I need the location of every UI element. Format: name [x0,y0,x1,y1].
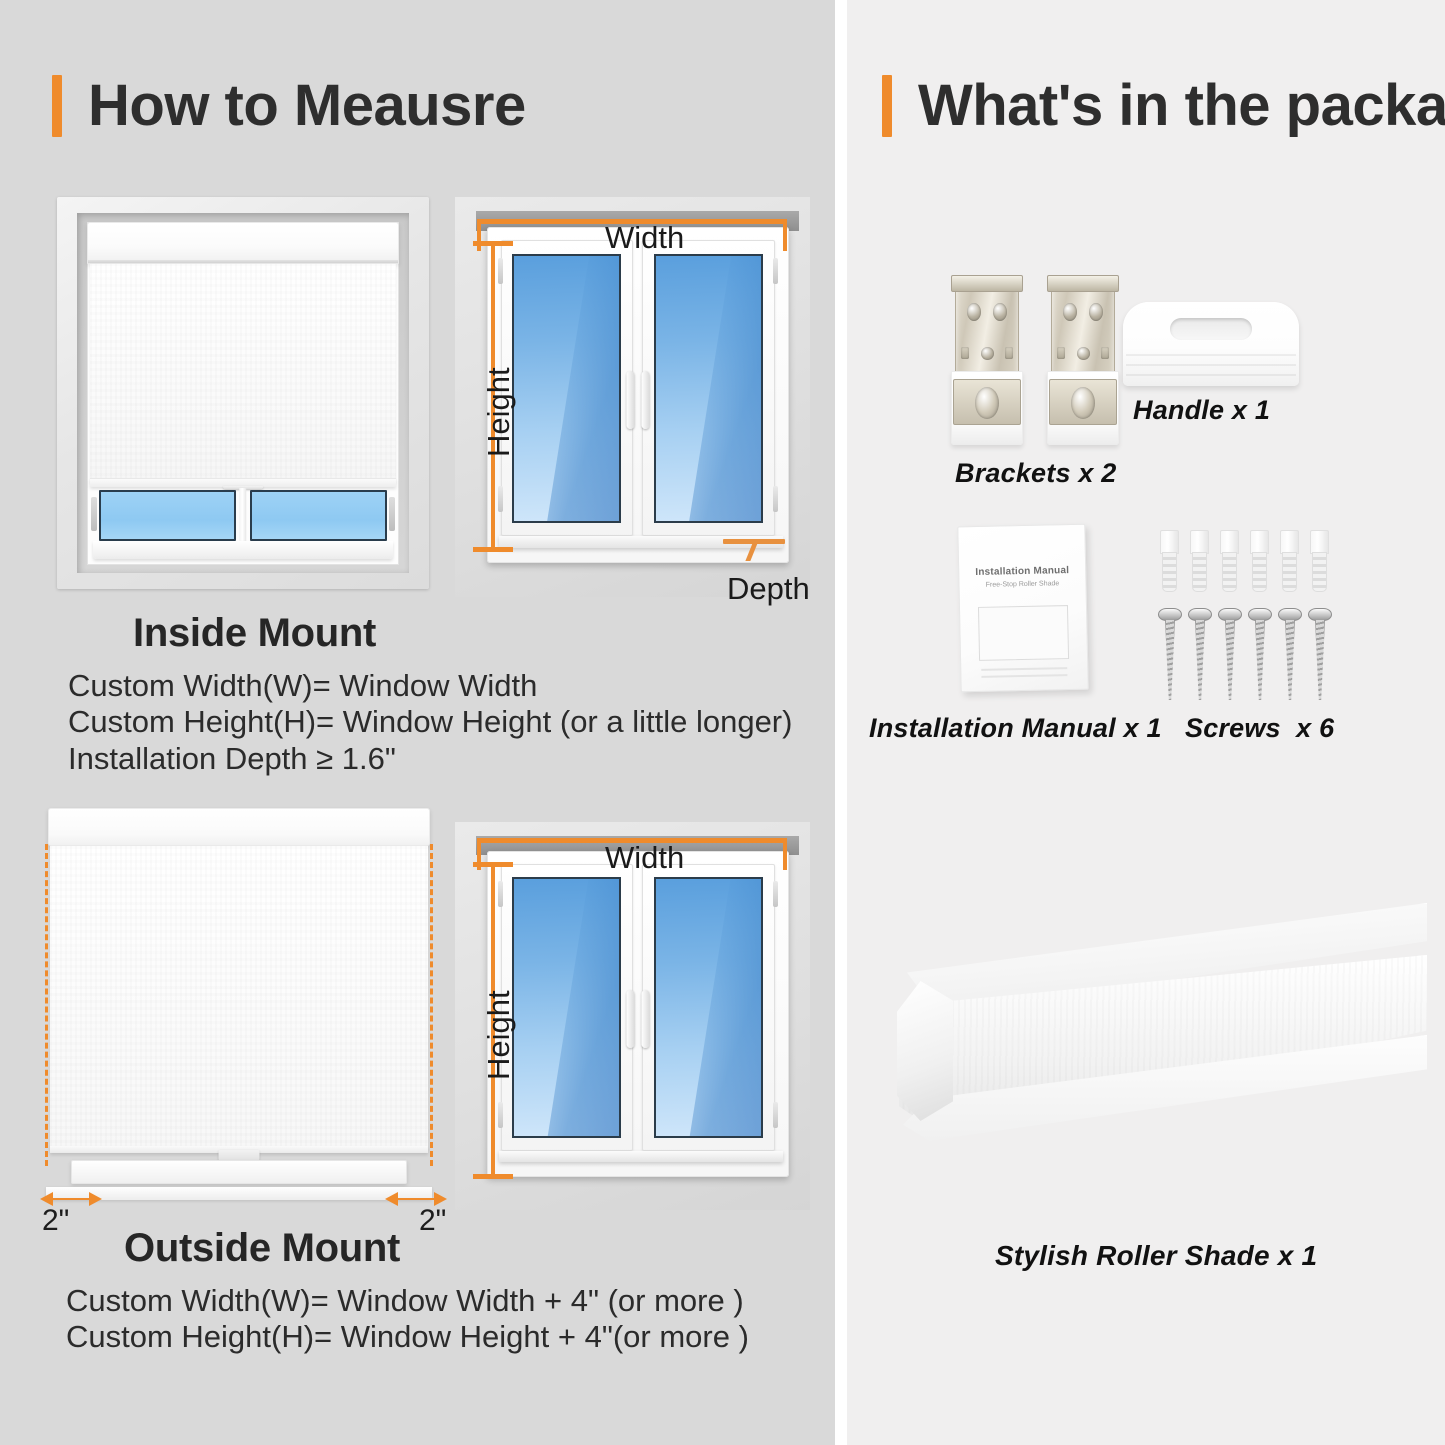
diagram-window-handles [626,371,649,429]
hinge-top-right [773,258,778,284]
anchor-head-4 [1250,530,1269,554]
manual-cover-figure [978,605,1069,661]
glass-pane-right [250,490,387,541]
bracket-oval-2 [1071,387,1095,419]
handle-label: Handle x 1 [1133,395,1270,426]
hinge-bottom-left-2 [498,1102,503,1128]
bracket-top-lip-1 [951,275,1023,292]
width-label-top: Width [605,220,684,256]
bracket-oval-1 [975,387,999,419]
accent-bar-icon-2 [882,75,892,137]
hinge-bottom-right-2 [773,1102,778,1128]
wall-anchor-2 [1190,530,1209,592]
bracket-hole-c2 [1077,347,1090,360]
inside-mount-text: Custom Width(W)= Window Width Custom Hei… [68,668,792,777]
width-cap-right-2 [783,838,787,870]
outside-window-frame [71,1160,407,1184]
outside-mount-line-1: Custom Width(W)= Window Width + 4" (or m… [66,1283,749,1319]
screw-4 [1252,608,1268,700]
outside-mount-text: Custom Width(W)= Window Width + 4" (or m… [66,1283,749,1356]
margin-label-left: 2" [42,1204,69,1238]
screw-5 [1282,608,1298,700]
glass-pane-left [99,490,236,541]
window-handle-right-2 [641,990,649,1048]
diagram-window-frame-2 [487,851,789,1177]
window-inner-frame [87,222,400,565]
outside-mount-line-2: Custom Height(H)= Window Height + 4"(or … [66,1319,749,1355]
how-to-measure-panel: How to Meausre [0,0,835,1445]
window-dimension-diagram-bottom: Width Height [455,822,810,1210]
screw-6 [1312,608,1328,700]
hinge-bottom-right [773,486,778,512]
outside-mount-shade-illustration [34,808,444,1206]
window-latch-left [91,497,97,531]
anchor-head-2 [1190,530,1209,554]
inside-mount-title: Inside Mount [133,611,376,656]
diagram-sash-left-2 [501,864,634,1151]
handle-ridge-3 [1126,374,1296,376]
margin-arrow-right-line [390,1198,442,1200]
diagram-glass-left-2 [512,877,621,1138]
wall-anchor-4 [1250,530,1269,592]
how-to-measure-title: How to Meausre [88,72,526,139]
screw-2 [1192,608,1208,700]
window-handle-right [641,371,649,429]
screw-shaft-4 [1255,620,1265,700]
depth-dimension-mark [723,539,785,561]
window-sill [93,541,393,558]
screw-3 [1222,608,1238,700]
height-cap-bottom-2 [473,1174,513,1179]
brackets-label: Brackets x 2 [955,458,1117,489]
bracket-top-lip-2 [1047,275,1119,292]
outside-shade-fabric [50,846,427,1150]
depth-label: Depth [727,571,810,607]
wall-anchor-5 [1280,530,1299,592]
screw-shaft-2 [1195,620,1205,700]
shade-bottom-rail [90,478,396,487]
screw-shaft-3 [1225,620,1235,700]
outside-window-sill [46,1187,431,1201]
width-cap-left [477,219,481,251]
height-label-top: Height [481,367,517,457]
screw-head-3 [1218,608,1242,621]
window-handle-left-2 [626,990,634,1048]
bracket-hole-b1 [993,303,1007,321]
anchor-body-4 [1252,552,1267,592]
wall-anchor-6 [1310,530,1329,592]
shade-fabric [90,264,396,484]
anchor-body-2 [1192,552,1207,592]
shade-cassette [87,222,400,263]
diagram-window-handles-2 [626,990,649,1048]
diagram-sashes [501,240,776,536]
height-cap-top [473,241,513,246]
margin-guide-right [430,844,433,1166]
infographic-page: How to Meausre [0,0,1445,1445]
screw-head-1 [1158,608,1182,621]
screw-shaft-1 [1165,620,1175,700]
inside-mount-shade-illustration [57,197,429,589]
height-cap-bottom [473,547,513,552]
diagram-glass-right-2 [654,877,763,1138]
anchor-head-5 [1280,530,1299,554]
outside-mount-title: Outside Mount [124,1226,400,1271]
screw-head-2 [1188,608,1212,621]
bracket-item-1 [951,275,1023,445]
hinge-bottom-left [498,486,503,512]
accent-bar-icon [52,75,62,137]
screw-head-5 [1278,608,1302,621]
inside-mount-line-3: Installation Depth ≥ 1.6" [68,741,792,777]
screw-head-6 [1308,608,1332,621]
manual-footer-line-1 [981,667,1067,671]
diagram-glass-right [654,254,763,523]
installation-manual-label: Installation Manual x 1 [869,713,1162,744]
anchor-head-1 [1160,530,1179,554]
anchor-head-3 [1220,530,1239,554]
handle-ridge-2 [1126,364,1296,366]
anchor-body-5 [1282,552,1297,592]
window-dimension-diagram-top: Width Height Depth [455,197,810,597]
wall-anchor-3 [1220,530,1239,592]
height-label-bottom: Height [481,990,517,1080]
screw-shaft-6 [1315,620,1325,700]
window-latch-right [389,497,395,531]
width-label-bottom: Width [605,840,684,876]
how-to-measure-heading: How to Meausre [52,72,526,139]
panel-divider [835,0,847,1445]
diagram-sash-left [501,240,634,536]
height-cap-top-2 [473,862,513,867]
bracket-hole-c1 [981,347,994,360]
diagram-window-sill-2 [499,1151,783,1162]
manual-cover-title: Installation Manual [959,565,1085,579]
bracket-slot-r1 [1005,347,1013,359]
bracket-slot-l1 [961,347,969,359]
bracket-hole-b2 [1089,303,1103,321]
margin-guide-left [45,844,48,1166]
handle-grip-slot [1170,318,1252,340]
bracket-hole-a1 [967,303,981,321]
hinge-top-left [498,258,503,284]
handle-ridge-1 [1126,354,1296,356]
hinge-top-right-2 [773,881,778,907]
roller-shade-label: Stylish Roller Shade x 1 [995,1240,1317,1272]
diagram-window-frame [487,227,789,563]
roller-shade-product-image [867,885,1427,1215]
diagram-glass-left [512,254,621,523]
anchor-body-3 [1222,552,1237,592]
screw-1 [1162,608,1178,700]
installation-manual-item: Installation Manual Free-Stop Roller Sha… [957,524,1088,693]
exposed-glass-strip [99,490,387,541]
window-mullion [239,488,246,550]
bracket-slot-r2 [1101,347,1109,359]
wall-anchor-1 [1160,530,1179,592]
package-title: What's in the package [918,72,1445,139]
anchor-body-1 [1162,552,1177,592]
hinge-top-left-2 [498,881,503,907]
margin-arrow-left-line [45,1198,97,1200]
package-heading: What's in the package [882,72,1445,139]
window-handle-left [626,371,634,429]
inside-mount-line-2: Custom Height(H)= Window Height (or a li… [68,704,792,740]
screws-label: Screws x 6 [1185,713,1334,744]
diagram-sash-right [642,240,775,536]
width-cap-right [783,219,787,251]
anchor-head-6 [1310,530,1329,554]
margin-label-right: 2" [419,1204,446,1238]
roller-shade-end-cap [897,981,953,1121]
anchor-body-6 [1312,552,1327,592]
outside-shade-cassette [48,808,429,846]
bracket-item-2 [1047,275,1119,445]
diagram-sash-right-2 [642,864,775,1151]
depth-mark-leg [745,543,757,561]
package-contents-panel: What's in the package Bra [847,0,1445,1445]
screw-head-4 [1248,608,1272,621]
manual-footer-line-2 [981,674,1067,678]
manual-cover-subtitle: Free-Stop Roller Shade [959,580,1085,590]
inside-mount-line-1: Custom Width(W)= Window Width [68,668,792,704]
screw-shaft-5 [1285,620,1295,700]
diagram-sashes-2 [501,864,776,1151]
bracket-hole-a2 [1063,303,1077,321]
bracket-slot-l2 [1057,347,1065,359]
handle-item [1123,302,1299,386]
